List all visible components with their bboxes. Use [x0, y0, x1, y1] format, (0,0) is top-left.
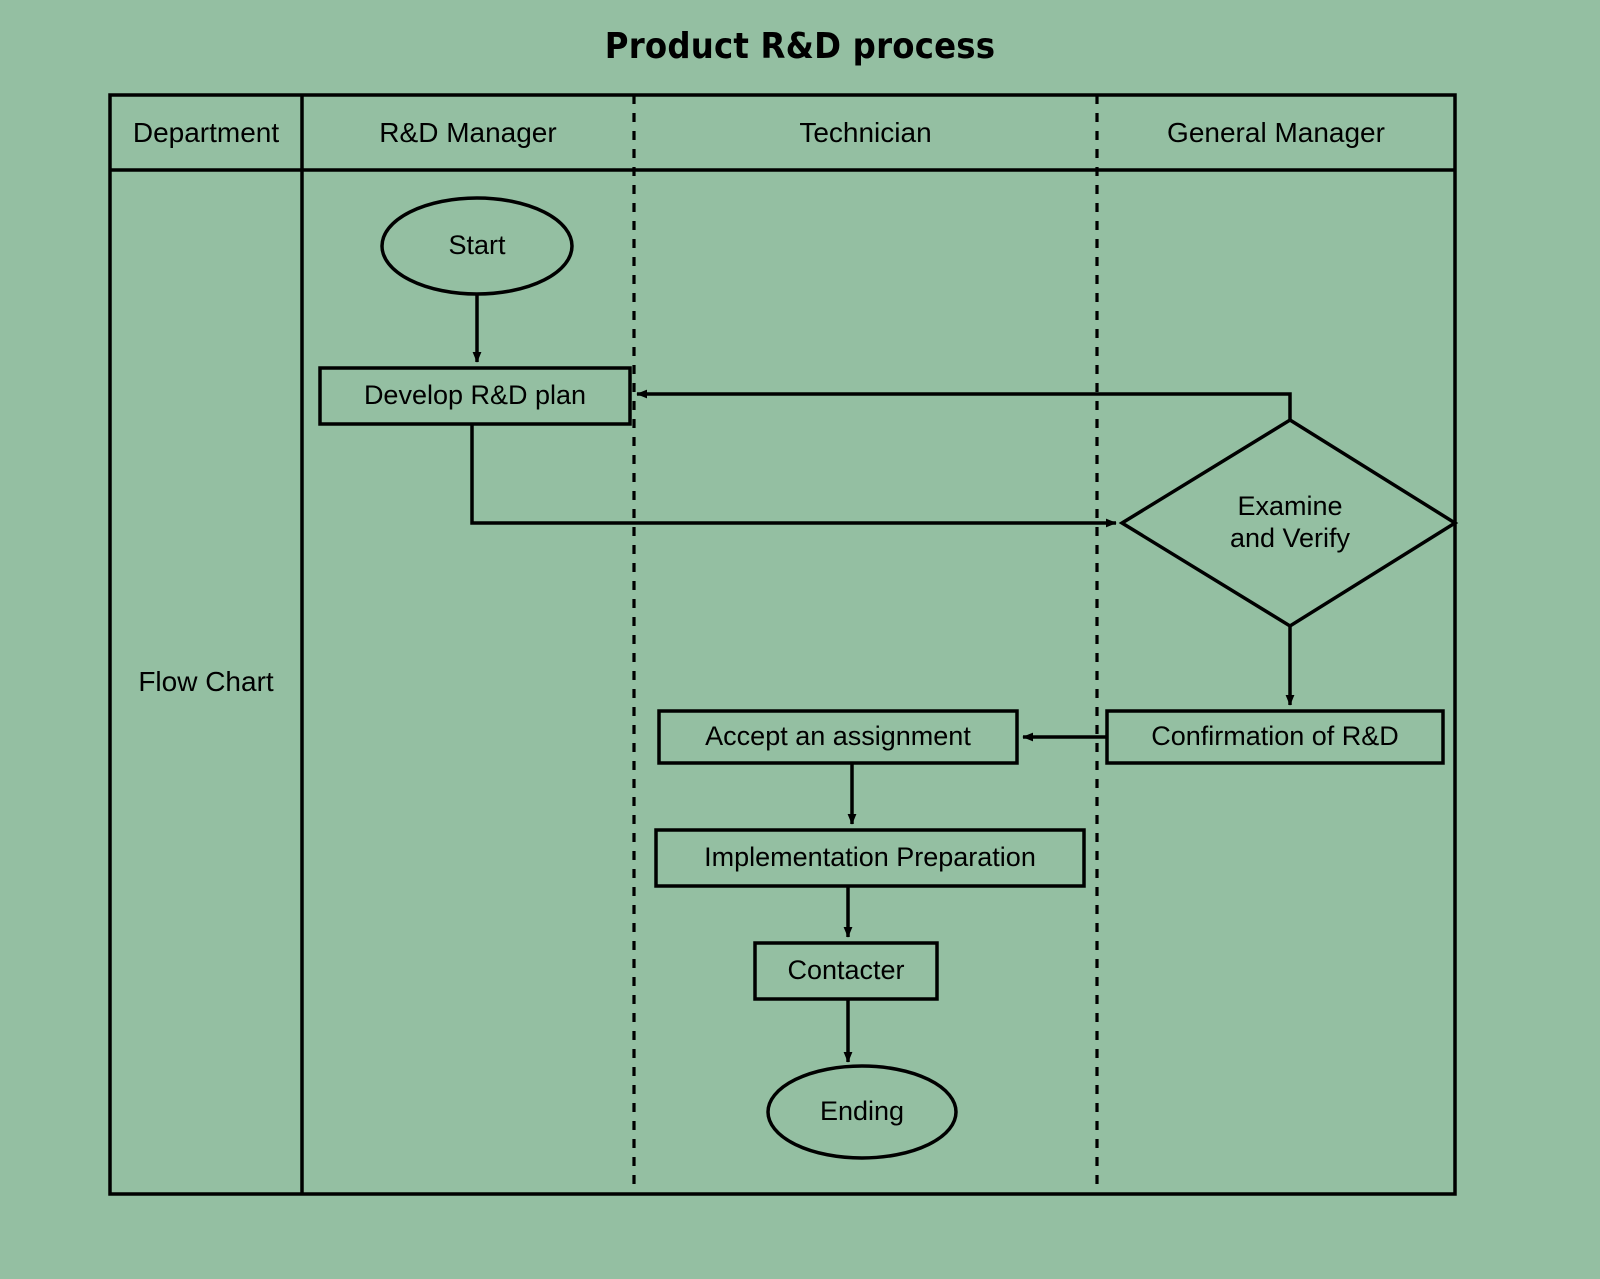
flowchart-page: Product R&D process [0, 0, 1600, 1279]
node-confirmation-of-rd-shape[interactable] [1107, 711, 1443, 763]
row-label-flow-chart: Flow Chart [110, 170, 302, 1194]
node-develop-rd-plan-shape[interactable] [320, 368, 630, 424]
node-contacter-shape[interactable] [755, 943, 937, 999]
node-start-shape[interactable] [382, 198, 572, 294]
column-header-technician: Technician [634, 95, 1097, 170]
edge-develop-to-examine [472, 424, 1116, 523]
column-header-department: Department [110, 95, 302, 170]
node-accept-an-assignment-shape[interactable] [659, 711, 1017, 763]
node-examine-and-verify-shape[interactable] [1122, 420, 1455, 626]
node-implementation-preparation-shape[interactable] [656, 830, 1084, 886]
column-header-rd-manager: R&D Manager [302, 95, 634, 170]
edge-examine-to-develop [637, 394, 1290, 420]
column-header-general-manager: General Manager [1097, 95, 1455, 170]
swimlane-frame [110, 95, 1455, 1194]
node-ending-shape[interactable] [768, 1066, 956, 1158]
